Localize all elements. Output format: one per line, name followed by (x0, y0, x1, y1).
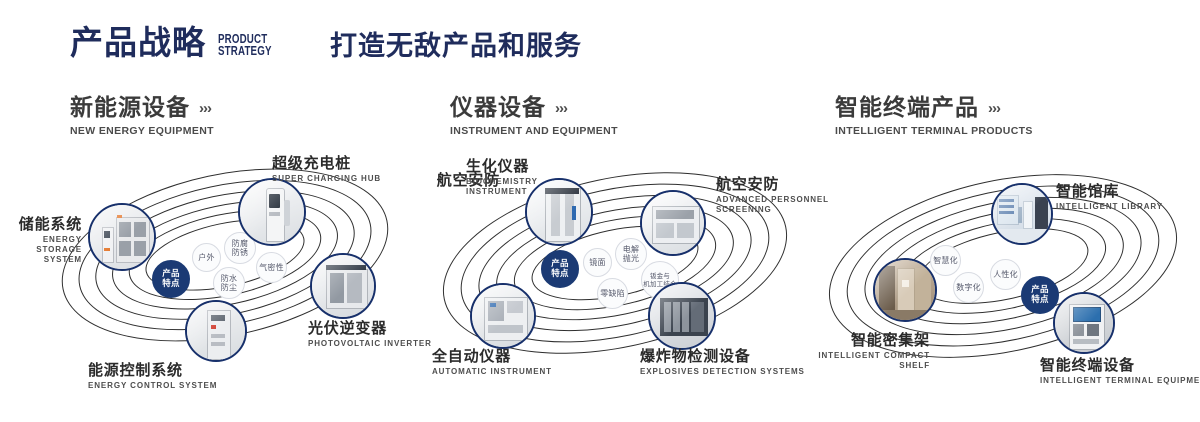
item-caption-energy-storage: 储能系统 ENERGY STORAGE SYSTEM (0, 216, 82, 265)
page-subtitle: 打造无敌产品和服务 (330, 33, 582, 60)
feature-bubble: 零缺陷 (597, 278, 628, 309)
product-photo-energy-control[interactable] (185, 300, 247, 362)
product-photo-terminal-equipment[interactable] (1053, 292, 1115, 354)
item-caption-compact-shelf: 智能密集架 INTELLIGENT COMPACT SHELF (790, 332, 930, 371)
product-photo-intelligent-library[interactable] (991, 183, 1053, 245)
section-title-instrument: 仪器设备 ››› INSTRUMENT AND EQUIPMENT (450, 96, 618, 137)
product-photo-personnel-screening[interactable] (640, 190, 706, 256)
feature-bubble: 户外 (192, 243, 221, 272)
item-caption-automatic-instrument: 全自动仪器 AUTOMATIC INSTRUMENT (432, 348, 612, 377)
product-photo-pv-inverter[interactable] (310, 253, 376, 319)
page-title: 产品战略 PRODUCT STRATEGY (70, 26, 287, 59)
feature-bubble: 镜面 (583, 248, 612, 277)
feature-bubble: 气密性 (256, 252, 287, 283)
section-title-en: INTELLIGENT TERMINAL PRODUCTS (835, 125, 1033, 137)
chevron-right-icon: ››› (988, 100, 1000, 117)
item-caption-intelligent-library: 智能馆库 INTELLIGENT LIBRARY (1056, 183, 1200, 212)
section-title-intelligent-terminal: 智能终端产品 ››› INTELLIGENT TERMINAL PRODUCTS (835, 96, 1033, 137)
core-feature-bubble: 产品 特点 (1021, 276, 1059, 314)
section-title-en: NEW ENERGY EQUIPMENT (70, 125, 214, 137)
item-caption-biochemistry-instrument: 生化仪器 BIOCHEMISTRY INSTRUMENT (466, 158, 596, 197)
feature-bubble: 人性化 (990, 259, 1021, 290)
section-title-cn: 智能终端产品 (835, 96, 979, 120)
section-title-cn: 仪器设备 (450, 96, 546, 120)
section-title-cn: 新能源设备 (70, 96, 190, 120)
product-photo-automatic-instrument[interactable] (470, 283, 536, 349)
section-title-en: INSTRUMENT AND EQUIPMENT (450, 125, 618, 137)
product-photo-charging-hub[interactable] (238, 178, 306, 246)
section-title-new-energy: 新能源设备 ››› NEW ENERGY EQUIPMENT (70, 96, 214, 137)
item-caption-energy-control: 能源控制系统 ENERGY CONTROL SYSTEM (88, 362, 308, 391)
page-title-cn: 产品战略 (70, 26, 206, 59)
chevron-right-icon: ››› (555, 100, 567, 117)
feature-bubble: 数字化 (953, 272, 984, 303)
chevron-right-icon: ››› (199, 100, 211, 117)
page-title-en: PRODUCT STRATEGY (218, 33, 272, 57)
product-photo-compact-shelf[interactable] (873, 258, 937, 322)
core-feature-bubble: 产品 特点 (152, 260, 190, 298)
feature-bubble: 防水 防尘 (213, 267, 245, 299)
item-caption-terminal-equipment: 智能终端设备 INTELLIGENT TERMINAL EQUIPMENT (1040, 357, 1200, 386)
product-photo-explosives-detection[interactable] (648, 282, 716, 350)
product-photo-energy-storage[interactable] (88, 203, 156, 271)
core-feature-bubble: 产品 特点 (541, 250, 579, 288)
poster-canvas: 产品战略 PRODUCT STRATEGY 打造无敌产品和服务 新能源设备 ››… (0, 0, 1200, 422)
